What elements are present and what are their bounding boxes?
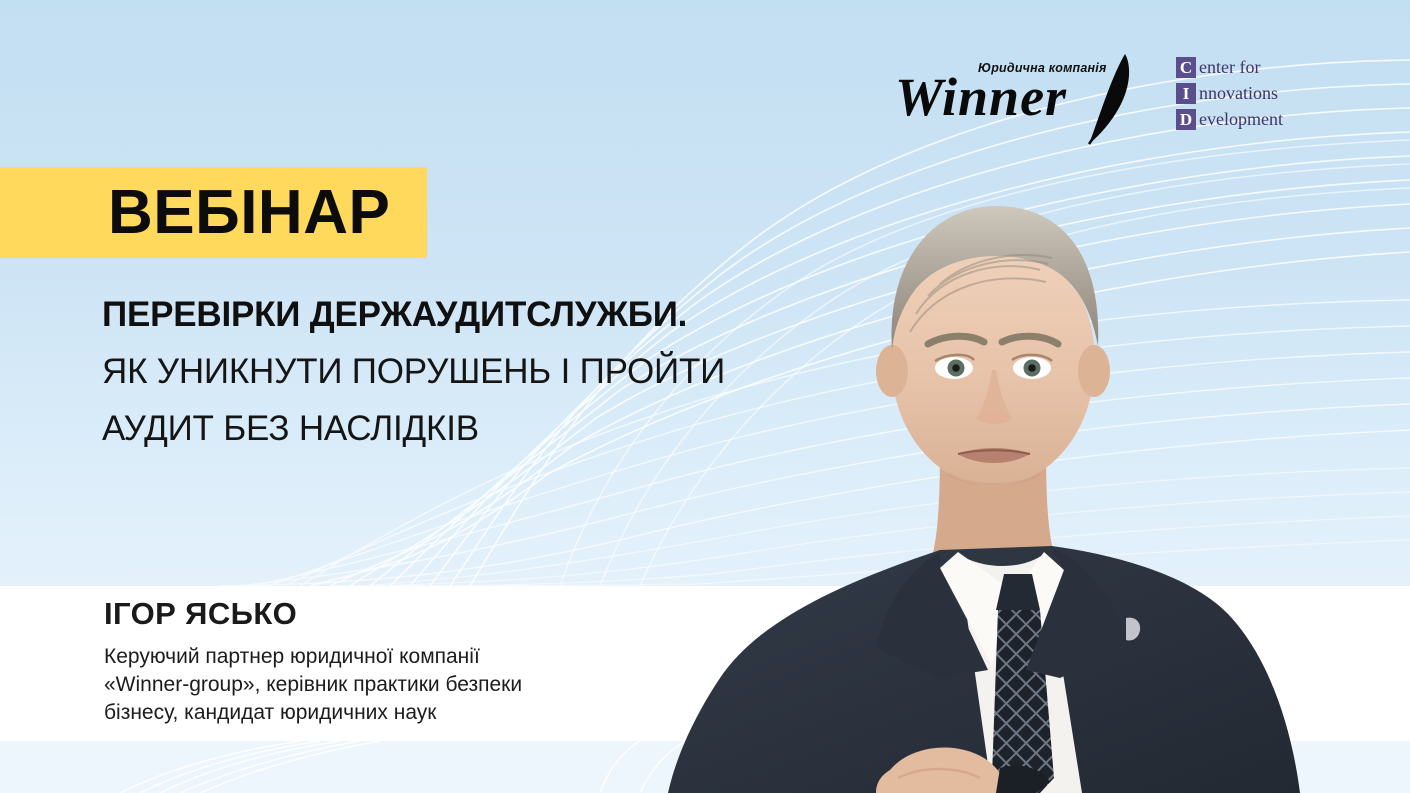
cid-logo-row-2: I nnovations xyxy=(1176,80,1311,106)
cid-initial-d: D xyxy=(1176,109,1196,130)
speaker-name: ІГОР ЯСЬКО xyxy=(104,598,574,629)
background-strip-bottom xyxy=(0,741,1410,793)
cid-logo-row-1: C enter for xyxy=(1176,54,1311,80)
cid-logo-row-3: D evelopment xyxy=(1176,106,1311,132)
cid-word-2: nnovations xyxy=(1199,84,1278,102)
speaker-block: ІГОР ЯСЬКО Керуючий партнер юридичної ко… xyxy=(104,598,574,727)
speaker-bio-line-3: бізнесу, кандидат юридичних наук xyxy=(104,699,574,727)
headline-block: ПЕРЕВІРКИ ДЕРЖАУДИТСЛУЖБИ. ЯК УНИКНУТИ П… xyxy=(102,297,782,468)
headline-line-1: ПЕРЕВІРКИ ДЕРЖАУДИТСЛУЖБИ. xyxy=(102,297,782,332)
cid-initial-i: I xyxy=(1176,83,1196,104)
cid-word-1: enter for xyxy=(1199,58,1260,76)
cid-initial-c: C xyxy=(1176,57,1196,78)
winner-logo: Юридична компанія Winner xyxy=(893,52,1138,140)
speaker-bio-line-1: Керуючий партнер юридичної компанії xyxy=(104,643,574,671)
webinar-badge: ВЕБІНАР xyxy=(0,167,427,258)
cid-word-3: evelopment xyxy=(1199,110,1283,128)
winner-logo-wordmark: Winner xyxy=(895,70,1067,124)
headline-line-3: АУДИТ БЕЗ НАСЛІДКІВ xyxy=(102,411,782,446)
webinar-banner: ВЕБІНАР ПЕРЕВІРКИ ДЕРЖАУДИТСЛУЖБИ. ЯК УН… xyxy=(0,0,1410,793)
headline-line-2: ЯК УНИКНУТИ ПОРУШЕНЬ І ПРОЙТИ xyxy=(102,354,782,389)
cid-logo: C enter for I nnovations D evelopment xyxy=(1176,54,1311,132)
webinar-badge-label: ВЕБІНАР xyxy=(108,182,390,244)
speaker-bio-line-2: «Winner-group», керівник практики безпек… xyxy=(104,671,574,699)
quill-pen-icon xyxy=(1061,50,1141,150)
